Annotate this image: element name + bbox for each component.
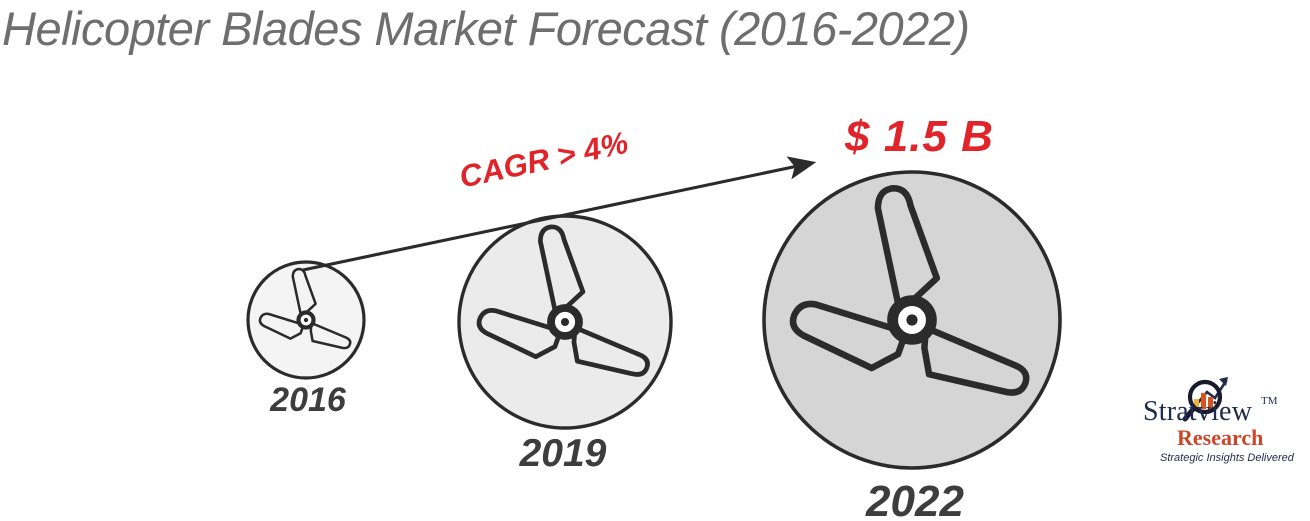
year-label-2016: 2016 (253, 381, 363, 420)
year-label-2022: 2022 (845, 477, 985, 521)
milestone-2019 (459, 216, 671, 428)
logo-trademark-symbol: TM (1261, 395, 1278, 407)
infographic-page: Helicopter Blades Market Forecast (2016-… (0, 0, 1310, 521)
logo-research-word: Research (1177, 425, 1263, 451)
year-label-2019: 2019 (503, 432, 623, 476)
logo-tagline: Strategic Insights Delivered (1160, 452, 1294, 464)
stratview-research-logo: Stratview TM Research Strategic Insights… (1143, 378, 1303, 473)
logo-wordmark: Stratview (1143, 396, 1252, 428)
forecast-value-label: $ 1.5 B (845, 112, 994, 162)
milestone-2016 (248, 262, 364, 378)
forecast-diagram (0, 0, 1310, 521)
milestone-2022 (764, 172, 1060, 468)
